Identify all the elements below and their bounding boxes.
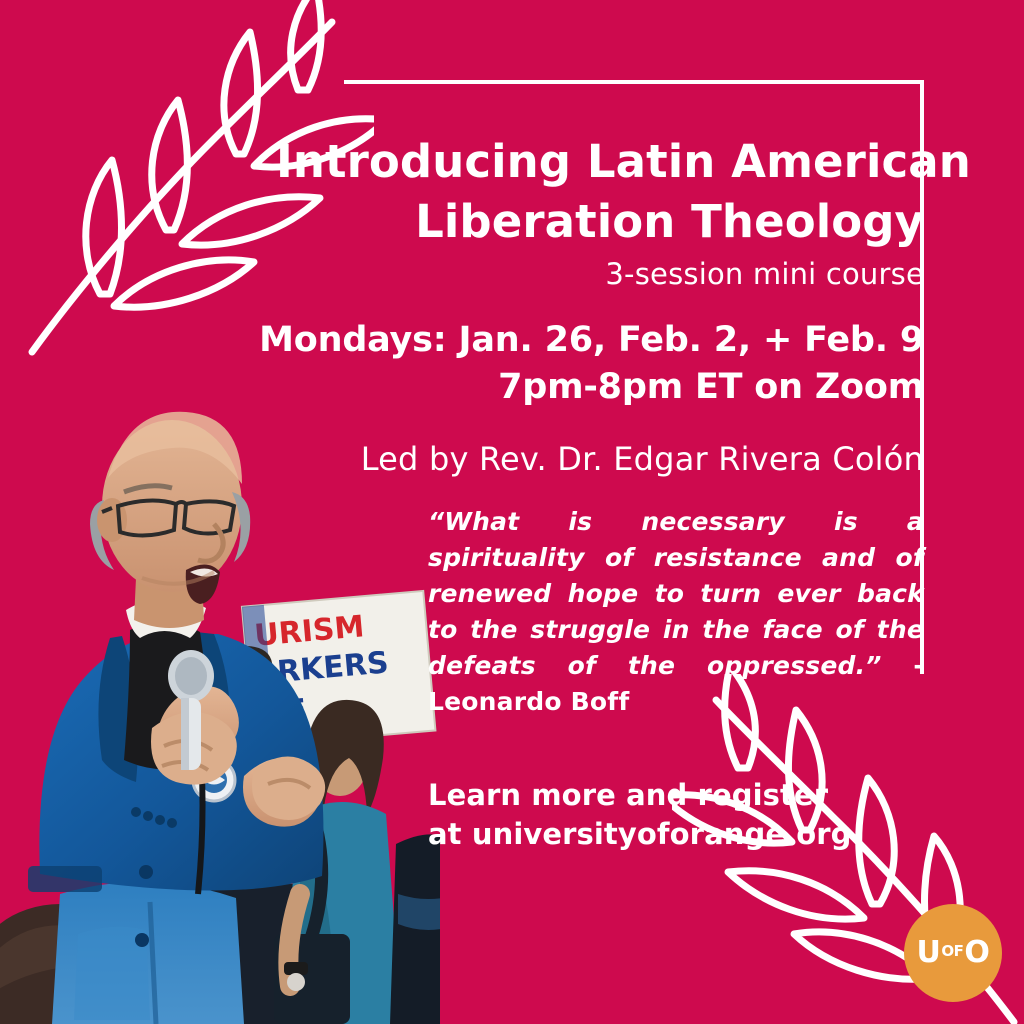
poster-text-block: Introducing Latin American Liberation Th… [240,132,924,855]
call-to-action: Learn more and register at universityofo… [428,776,924,855]
page-title-line-2: Liberation Theology [240,192,924,252]
university-of-orange-logo[interactable]: UOFO [904,904,1002,1002]
schedule-time: 7pm-8pm ET on Zoom [240,364,924,410]
poster-canvas: URISM ORKERS ISE UNITE [0,0,1024,1024]
pull-quote: “What is necessary is a spirituality of … [428,504,924,720]
logo-letters-of: OF [941,944,963,959]
schedule-dates: Mondays: Jan. 26, Feb. 2, + Feb. 9 [240,317,924,363]
logo-letter-o: O [964,938,989,968]
cta-line-1: Learn more and register [428,776,924,815]
logo-wordmark: UOFO [917,938,990,968]
logo-letter-u: U [917,938,941,968]
pull-quote-text: “What is necessary is a spirituality of … [428,507,924,680]
page-title-line-1: Introducing Latin American [240,132,924,192]
cta-website-url[interactable]: at universityoforange.org [428,815,924,854]
presenter-name: Led by Rev. Dr. Edgar Rivera Colón [240,440,924,478]
course-subtitle: 3-session mini course [240,256,924,294]
